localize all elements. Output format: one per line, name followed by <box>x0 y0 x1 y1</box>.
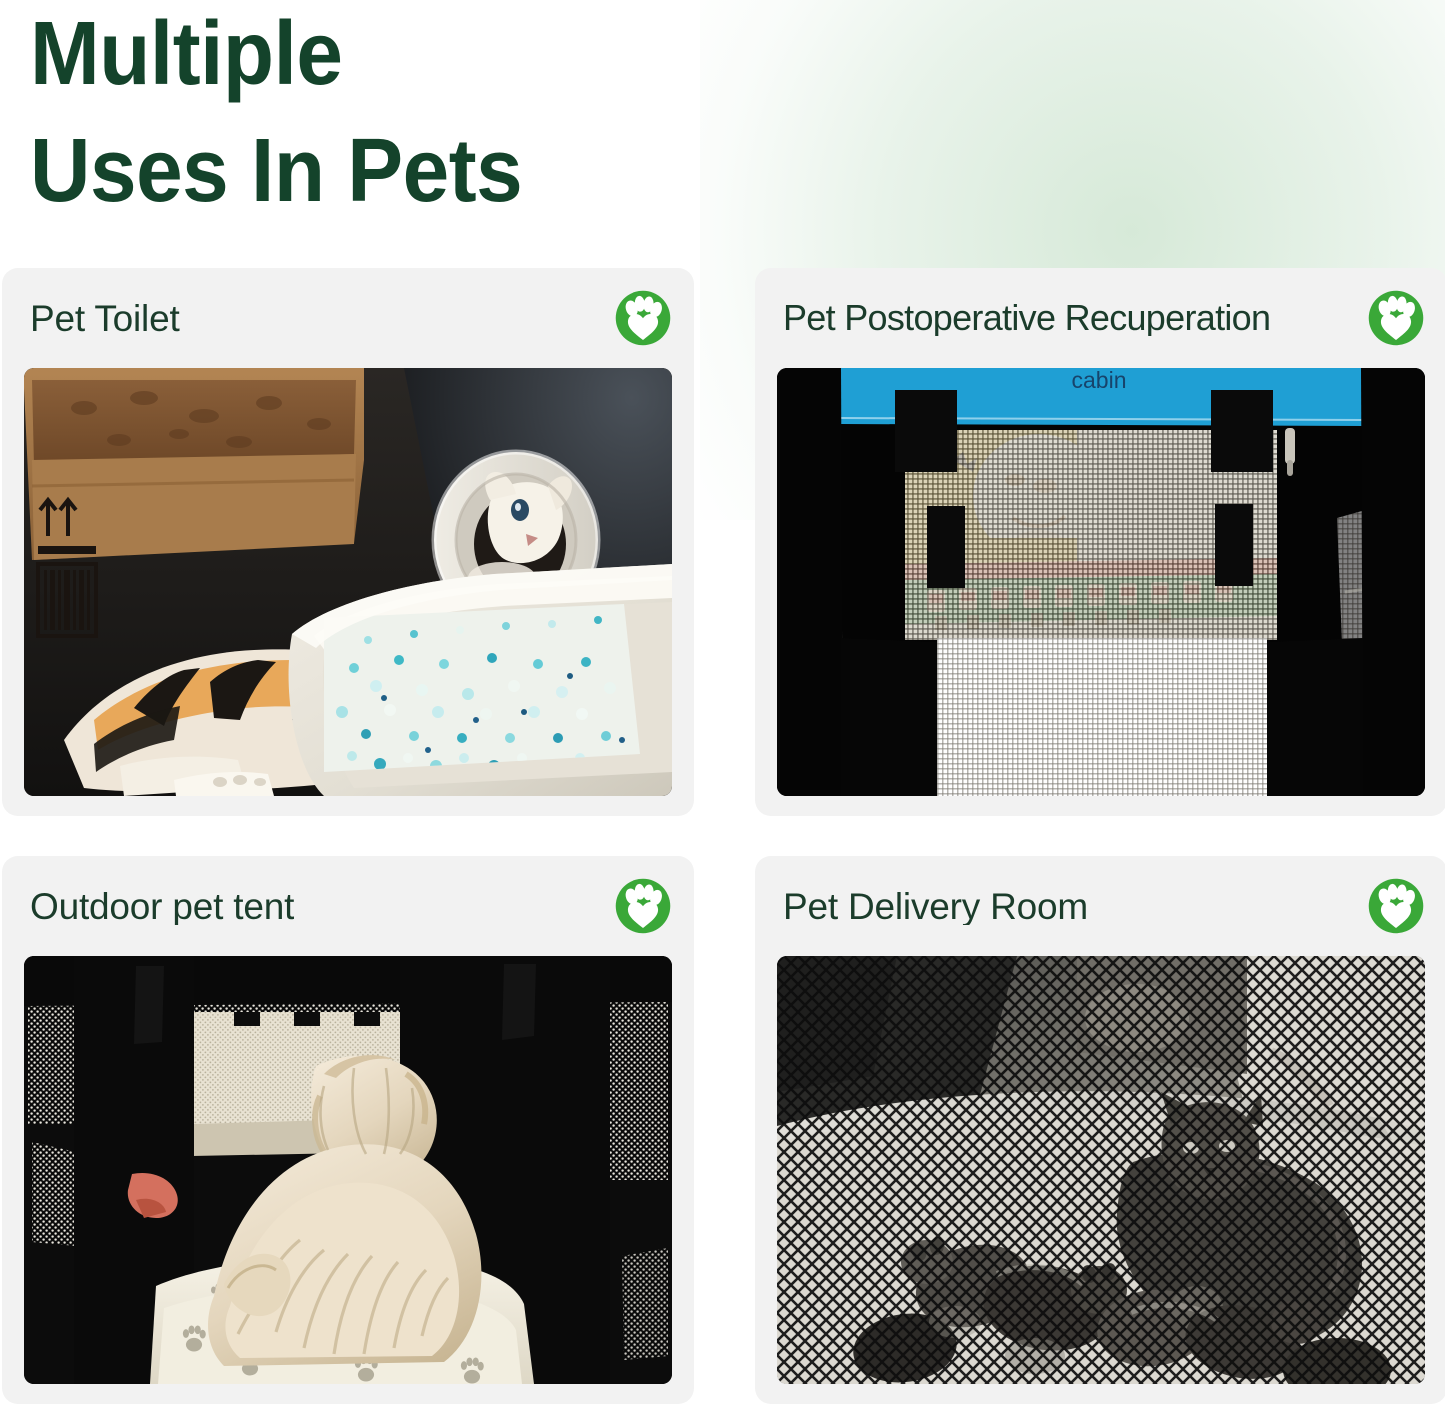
card-title: Outdoor pet tent <box>30 888 294 925</box>
paw-icon <box>614 289 672 347</box>
page-title: Multiple Uses In Pets <box>30 0 737 230</box>
card-header: Outdoor pet tent <box>2 856 694 956</box>
infographic-page: Multiple Uses In Pets Pet Toilet <box>0 0 1445 1412</box>
card-title: Pet Postoperative Recuperation <box>783 300 1270 336</box>
card-title: Pet Delivery Room <box>783 888 1088 925</box>
card-title: Pet Toilet <box>30 300 180 337</box>
card-header: Pet Postoperative Recuperation <box>755 268 1445 368</box>
feature-card-grid: Pet Toilet <box>0 268 1445 1404</box>
feature-card-pet-postoperative-recuperation[interactable]: Pet Postoperative Recuperation <box>755 268 1445 816</box>
paw-icon <box>1367 289 1425 347</box>
card-header: Pet Toilet <box>2 268 694 368</box>
card-photo-delivery-room <box>777 956 1425 1384</box>
feature-card-pet-toilet[interactable]: Pet Toilet <box>2 268 694 816</box>
paw-icon <box>614 877 672 935</box>
paw-icon <box>1367 877 1425 935</box>
svg-text:cabin: cabin <box>1072 368 1127 393</box>
card-header: Pet Delivery Room <box>755 856 1445 956</box>
feature-card-outdoor-pet-tent[interactable]: Outdoor pet tent <box>2 856 694 1404</box>
card-photo-pet-toilet <box>24 368 672 796</box>
card-photo-outdoor-tent <box>24 956 672 1384</box>
card-photo-recuperation: cabin <box>777 368 1425 796</box>
feature-card-pet-delivery-room[interactable]: Pet Delivery Room <box>755 856 1445 1404</box>
